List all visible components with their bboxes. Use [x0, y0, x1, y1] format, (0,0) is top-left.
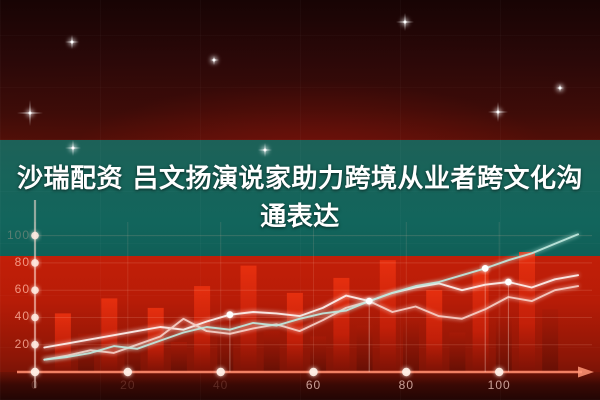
chart-data-point	[366, 298, 373, 305]
chart-y-tick-dot	[31, 314, 39, 322]
chart-bar	[380, 260, 396, 372]
chart-bar	[333, 278, 349, 372]
financial-chart	[0, 200, 600, 400]
chart-x-tick-dot	[31, 368, 39, 376]
chart-x-tick-dot	[309, 368, 317, 376]
chart-bar	[125, 338, 141, 372]
chart-y-tick-dot	[31, 232, 39, 240]
chart-data-point	[482, 265, 489, 272]
chart-x-axis-arrow	[578, 367, 594, 378]
chart-y-tick-dot	[31, 286, 39, 294]
chart-bar	[542, 309, 558, 372]
chart-bar	[449, 333, 465, 373]
chart-data-point	[505, 279, 512, 286]
chart-y-tick-dot	[31, 341, 39, 349]
chart-bar	[264, 331, 280, 372]
chart-data-point	[227, 311, 234, 318]
chart-x-tick-dot	[402, 368, 410, 376]
chart-x-tick-dot	[124, 368, 132, 376]
background-band-top	[0, 0, 600, 142]
chart-bar	[519, 252, 535, 372]
chart-bar	[357, 326, 373, 372]
chart-bar	[241, 266, 257, 372]
chart-y-tick-dot	[31, 259, 39, 267]
chart-bar	[426, 290, 442, 372]
chart-bar	[496, 316, 512, 372]
screenshot-root: 20406080100 020406080100 沙瑞配资 吕文扬演说家助力跨境…	[0, 0, 600, 400]
chart-bar	[403, 320, 419, 372]
chart-bar	[171, 342, 187, 372]
chart-area	[0, 200, 600, 400]
chart-x-tick-dot	[495, 368, 503, 376]
chart-bar	[310, 337, 326, 373]
chart-bar	[217, 324, 233, 372]
chart-x-tick-dot	[217, 368, 225, 376]
chart-bar	[287, 293, 303, 372]
